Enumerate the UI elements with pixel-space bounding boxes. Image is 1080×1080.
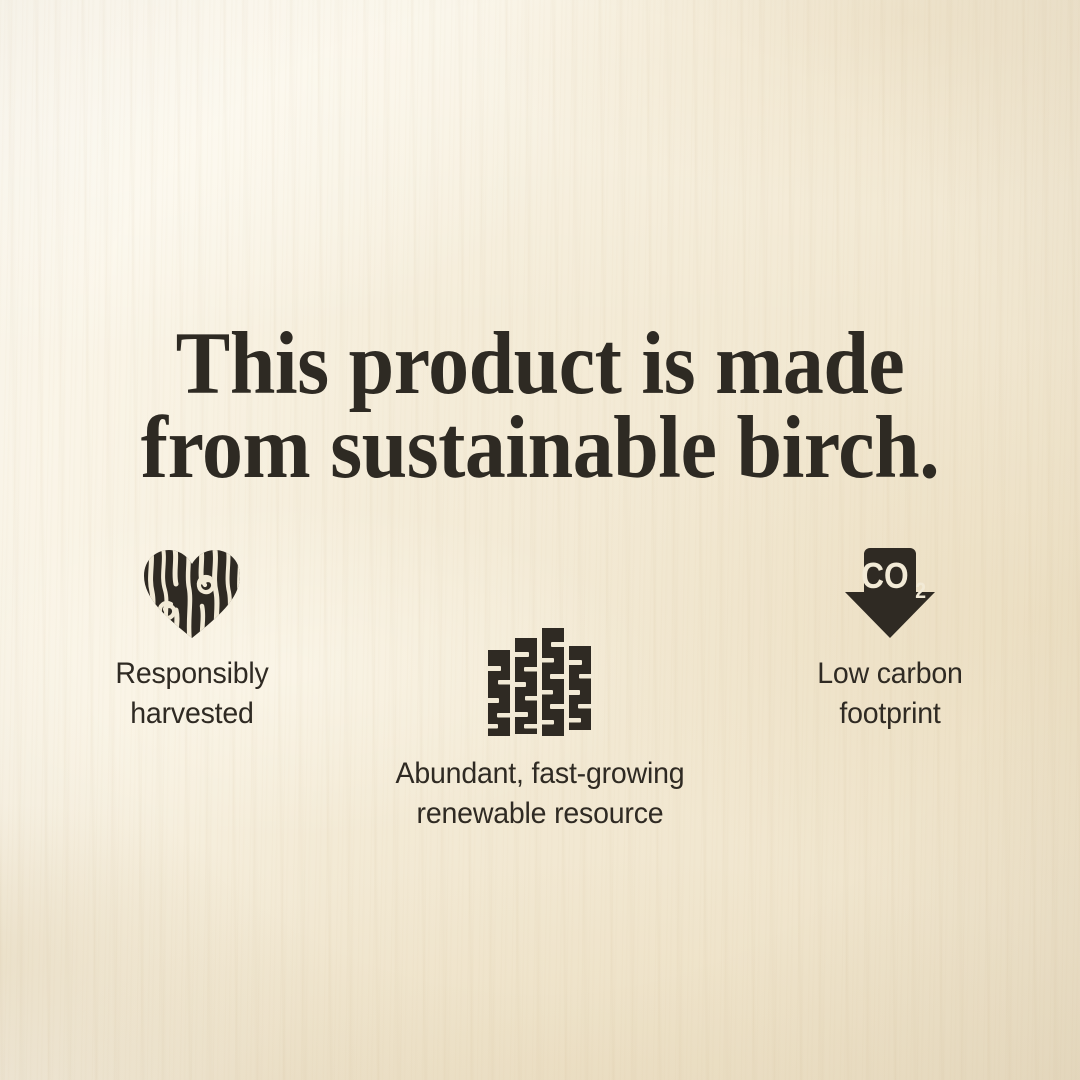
icon-container [62,548,322,640]
headline-line-2: from sustainable birch. [43,406,1037,490]
benefit-responsibly-harvested: Responsibly harvested [62,548,322,734]
co2-text: CO [861,556,909,596]
poster-content: This product is made from sustainable bi… [0,0,1080,1080]
icon-container: CO 2 [760,548,1020,640]
benefit-label: Abundant, fast-growing renewable resourc… [369,754,711,834]
benefit-label: Responsibly harvested [69,654,316,734]
page-title: This product is made from sustainable bi… [43,322,1037,490]
birch-trunks-icon [484,620,596,740]
co2-down-arrow-icon: CO 2 [837,548,943,640]
birch-sustainability-poster: This product is made from sustainable bi… [0,0,1080,1080]
co2-subscript: 2 [915,579,926,603]
headline-line-1: This product is made [43,322,1037,406]
icon-container [360,620,720,740]
wood-grain-heart-icon [140,548,244,640]
benefit-label: Low carbon footprint [767,654,1014,734]
benefit-renewable-resource: Abundant, fast-growing renewable resourc… [360,620,720,834]
benefit-low-carbon-footprint: CO 2 Low carbon footprint [760,548,1020,734]
